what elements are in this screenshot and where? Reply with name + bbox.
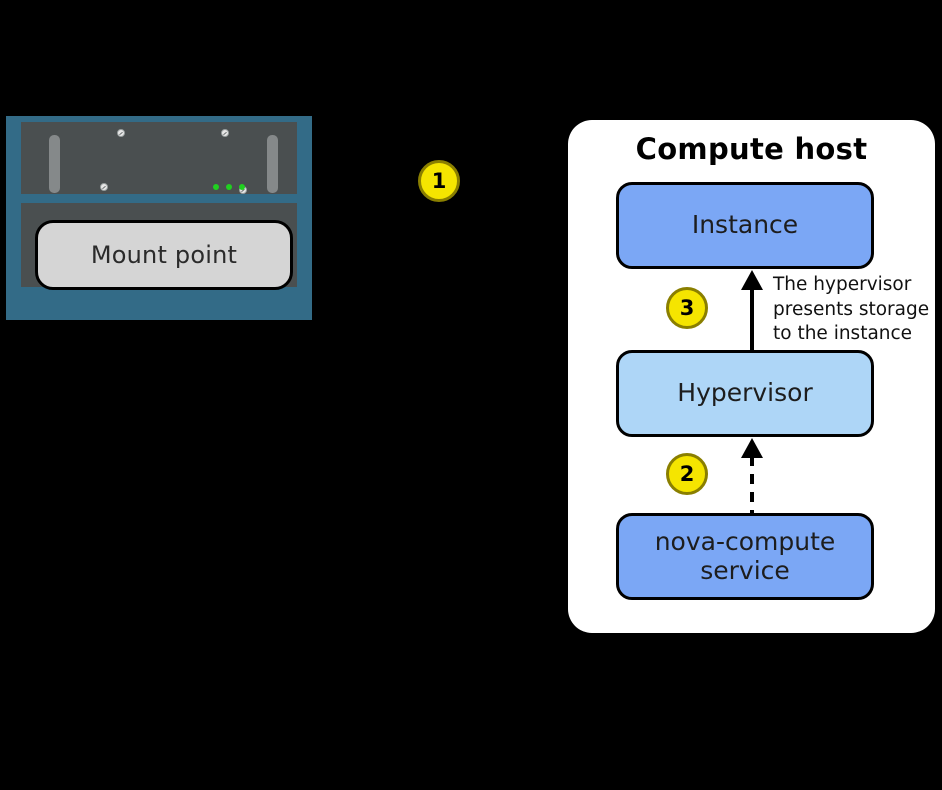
- status-led-icon-3: [239, 184, 245, 190]
- hypervisor-annotation-text: The hypervisor presents storage to the i…: [773, 273, 942, 347]
- arrow-hypervisor-to-instance: [741, 270, 763, 351]
- compute-host-panel: Compute host Instance The hypervisor pre…: [568, 120, 935, 633]
- status-led-icon-2: [226, 184, 232, 190]
- drive-handle-left-icon: [49, 135, 60, 193]
- arrow-shaft-dashed: [750, 456, 754, 514]
- screw-icon-bottom-left: [100, 183, 108, 191]
- step-badge-3: 3: [666, 287, 708, 329]
- arrow-nova-to-hypervisor: [741, 438, 763, 514]
- instance-box: Instance: [616, 182, 874, 269]
- step-badge-2: 2: [666, 453, 708, 495]
- status-led-icon-1: [213, 184, 219, 190]
- drive-handle-right-icon: [267, 135, 278, 193]
- screw-icon-top-left: [117, 129, 125, 137]
- compute-host-title: Compute host: [568, 132, 935, 166]
- arrowhead-up-icon: [741, 270, 763, 290]
- arrow-shaft: [750, 288, 754, 351]
- hypervisor-box: Hypervisor: [616, 350, 874, 437]
- nova-compute-service-box: nova-compute service: [616, 513, 874, 600]
- storage-array: Mount point: [6, 116, 312, 320]
- step-badge-1: 1: [418, 160, 460, 202]
- mount-point-box: Mount point: [35, 220, 293, 290]
- arrowhead-up-icon: [741, 438, 763, 458]
- screw-icon-top-right: [221, 129, 229, 137]
- storage-array-top-panel: [21, 122, 297, 194]
